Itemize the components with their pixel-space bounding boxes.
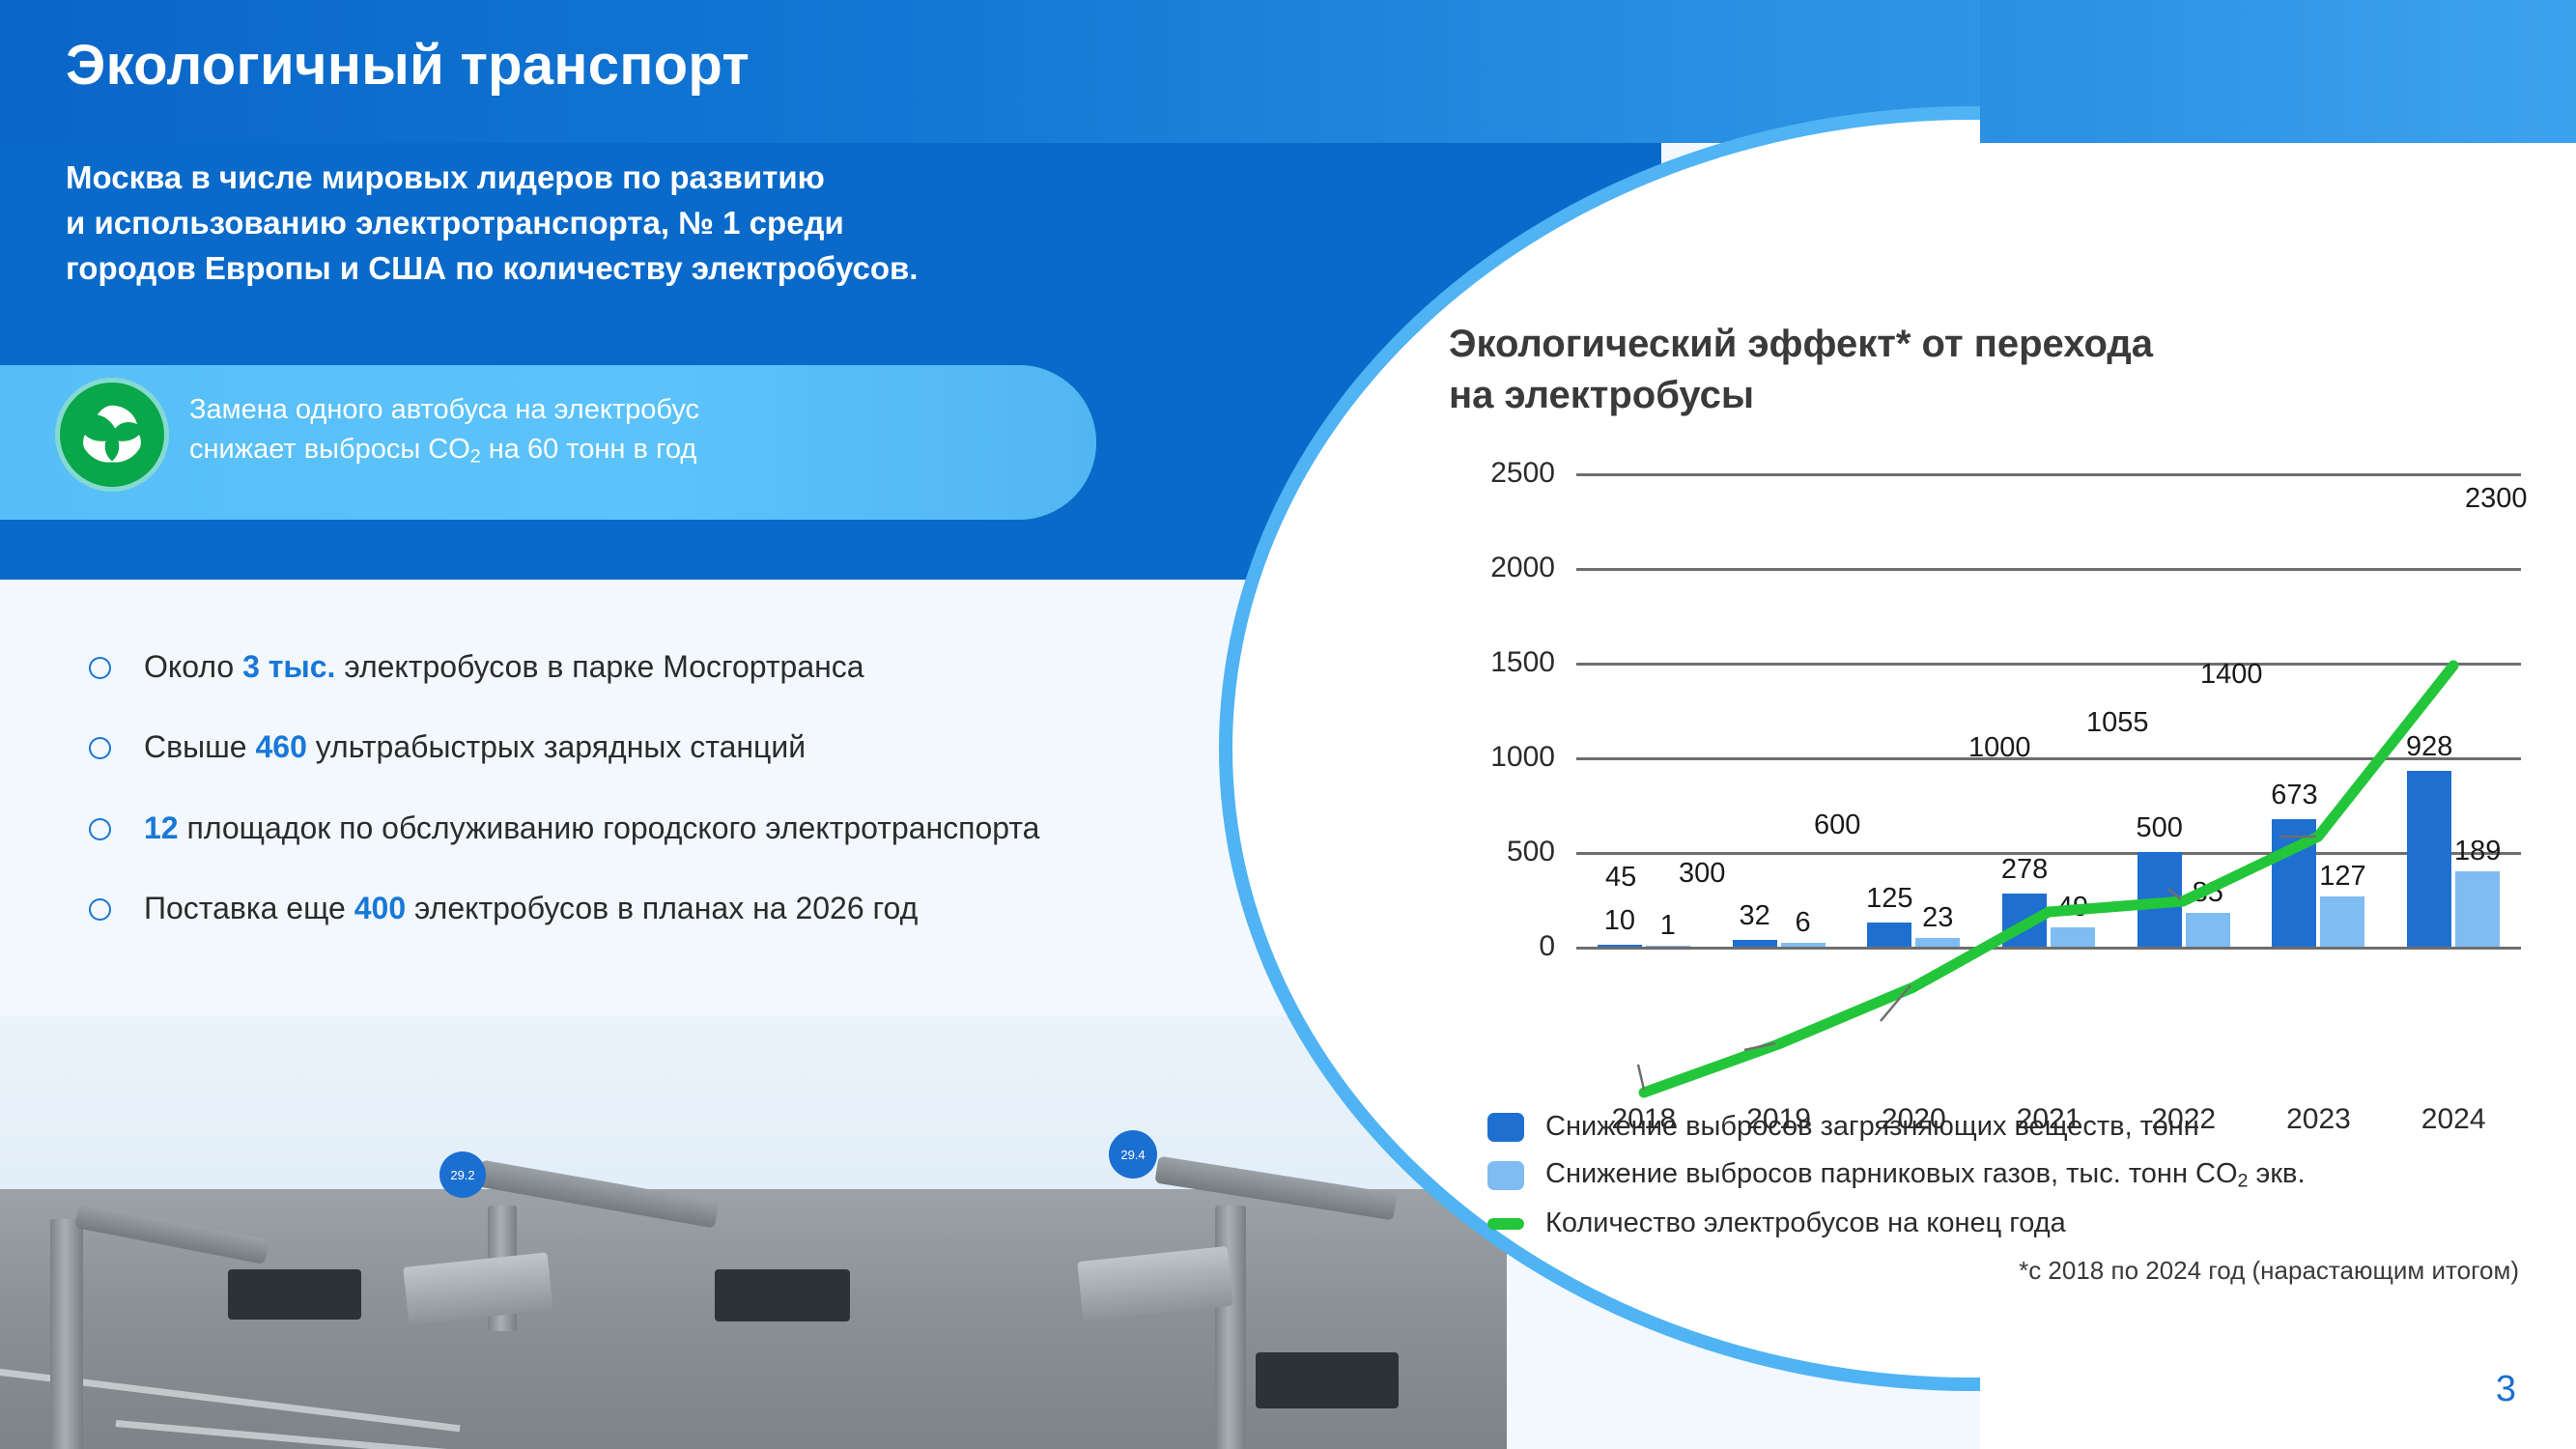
chart-plot-area: 2500 2000 1500 1000 500 0 10 1 32 6 125 … [1449, 473, 2521, 947]
page-title: Экологичный транспорт [66, 33, 750, 98]
bar-value-label: 673 [2271, 780, 2317, 811]
charger-tag: 29.2 [439, 1151, 486, 1198]
bar-pollutants: 125 [1867, 923, 1911, 947]
bullet-dot-icon [89, 737, 111, 759]
bar-greenhouse: 49 [2051, 927, 2095, 947]
bullet-post: ультрабыстрых зарядных станций [307, 729, 806, 764]
co2-badge-line-1: Замена одного автобуса на электробус [189, 390, 699, 430]
line-point-label-2021: 1000 [1968, 732, 2031, 764]
bar-pollutants: 32 [1733, 940, 1777, 947]
bar-greenhouse: 85 [2186, 913, 2230, 947]
bar-value-label: 49 [2057, 892, 2088, 923]
bar-value-label: 127 [2319, 861, 2365, 893]
bullet-pre: Поставка еще [144, 891, 354, 925]
subtitle-line-1: Москва в числе мировых лидеров по развит… [66, 155, 918, 200]
list-item: Свыше 460 ультрабыстрых зарядных станций [89, 725, 1055, 769]
legend-label: Снижение выбросов загрязняющих веществ, … [1545, 1111, 2199, 1143]
legend-item-greenhouse: Снижение выбросов парниковых газов, тыс.… [1487, 1158, 2306, 1192]
bar-pollutants: 928 [2407, 771, 2451, 947]
line-point-label-2023: 1400 [2200, 659, 2263, 691]
bar-greenhouse: 127 [2320, 896, 2364, 947]
y-axis-tick: 2000 [1449, 552, 1555, 584]
bar-greenhouse: 189 [2455, 871, 2500, 947]
charger-head [228, 1269, 361, 1320]
line-point-label-2020: 600 [1814, 810, 1860, 841]
chart-title-line-1: Экологический эффект* от перехода [1449, 319, 2531, 370]
y-axis-tick: 500 [1449, 836, 1555, 868]
bullet-dot-icon [89, 657, 111, 679]
y-axis-tick: 2500 [1449, 457, 1555, 490]
co2-badge-line-2-post: на 60 тонн в год [481, 434, 697, 465]
subtitle-line-3: городов Европы и США по количеству элект… [66, 245, 918, 291]
co2-badge-text: Замена одного автобуса на электробус сни… [189, 390, 699, 470]
list-item: 12 площадок по обслуживанию городского э… [89, 807, 1055, 850]
subtitle-line-2: и использованию электротранспорта, № 1 с… [66, 200, 918, 245]
legend-item-electrobus-count: Количество электробусов на конец года [1487, 1207, 2306, 1239]
bar-value-label: 85 [2193, 877, 2223, 909]
bar-pollutants: 673 [2272, 819, 2316, 947]
chart-legend: Снижение выбросов загрязняющих веществ, … [1487, 1111, 2306, 1255]
bar-pollutants: 500 [2137, 852, 2182, 947]
y-axis-tick: 1500 [1449, 646, 1555, 679]
charger-head [1256, 1352, 1399, 1408]
electrobus-photo: 29.2 29.4 Э электр 490170 Это электробус… [0, 1016, 1507, 1449]
bar-value-label: 23 [1922, 902, 1953, 934]
bar-value-label: 189 [2454, 836, 2501, 867]
bullet-text: Поставка еще 400 электробусов в планах н… [144, 887, 918, 930]
bar-greenhouse: 23 [1915, 938, 1960, 947]
bar-group-2019: 32 6 [1712, 473, 1847, 947]
bar-pollutants: 10 [1598, 945, 1642, 947]
bullet-highlight: 400 [354, 891, 406, 925]
header-band-right [1980, 0, 2576, 143]
bar-value-label: 500 [2137, 812, 2183, 844]
line-point-label-2019: 300 [1679, 858, 1725, 890]
bullet-post: электробусов в планах на 2026 год [406, 891, 918, 925]
page-subtitle: Москва в числе мировых лидеров по развит… [66, 155, 918, 292]
bullet-post: площадок по обслуживанию городского элек… [179, 810, 1040, 845]
bar-value-label: 1 [1660, 910, 1676, 942]
legend-swatch-icon [1487, 1161, 1524, 1190]
charger-mast [50, 1219, 83, 1449]
bar-greenhouse: 6 [1781, 943, 1826, 947]
bar-group-2024: 928 189 [2386, 473, 2521, 947]
bar-value-label: 125 [1866, 883, 1912, 915]
bar-group-2020: 125 23 [1846, 473, 1981, 947]
bar-value-label: 278 [2001, 854, 2048, 886]
bar-greenhouse: 1 [1646, 946, 1690, 947]
chart-footnote: *с 2018 по 2024 год (нарастающим итогом) [2019, 1256, 2519, 1286]
bullet-list: Около 3 тыс. электробусов в парке Мосгор… [89, 645, 1055, 968]
bar-value-label: 32 [1739, 900, 1769, 932]
bar-group-2023: 673 127 [2251, 473, 2387, 947]
co2-subscript: 2 [470, 446, 481, 468]
legend-label-post: экв. [2249, 1158, 2306, 1189]
gridline [1576, 947, 2521, 950]
bullet-pre: Свыше [144, 729, 255, 764]
co2-badge-line-2-pre: снижает выбросы CO [189, 434, 470, 465]
bullet-post: электробусов в парке Мосгортранса [335, 649, 863, 684]
page-number: 3 [2496, 1369, 2516, 1410]
line-point-label-2018: 45 [1605, 862, 1636, 894]
bar-value-label: 6 [1796, 907, 1811, 939]
list-item: Около 3 тыс. электробусов в парке Мосгор… [89, 645, 1055, 689]
legend-line-icon [1487, 1218, 1524, 1230]
legend-label: Снижение выбросов парниковых газов, тыс.… [1545, 1158, 2306, 1192]
line-point-label-2022: 1055 [2086, 707, 2149, 739]
chart-container: Экологический эффект* от перехода на эле… [1449, 319, 2531, 1314]
legend-label-pre: Снижение выбросов парниковых газов, тыс.… [1545, 1158, 2238, 1189]
charger-head [715, 1269, 850, 1321]
legend-swatch-icon [1487, 1113, 1524, 1142]
bullet-pre: Около [144, 649, 242, 684]
list-item: Поставка еще 400 электробусов в планах н… [89, 887, 1055, 930]
bullet-highlight: 12 [144, 810, 179, 845]
chart-title: Экологический эффект* от перехода на эле… [1449, 319, 2531, 421]
bar-value-label: 10 [1604, 905, 1635, 937]
line-point-label-2024: 2300 [2465, 483, 2528, 515]
co2-badge-line-2: снижает выбросы CO2 на 60 тонн в год [189, 430, 699, 469]
bullet-text: Свыше 460 ультрабыстрых зарядных станций [144, 725, 806, 769]
bar-value-label: 928 [2406, 731, 2452, 763]
x-axis-tick: 2024 [2386, 1103, 2521, 1136]
bullet-dot-icon [89, 898, 111, 921]
charger-mast [1215, 1206, 1246, 1449]
y-axis-tick: 0 [1449, 930, 1555, 963]
y-axis-tick: 1000 [1449, 741, 1555, 774]
photo-sky [0, 1016, 1507, 1198]
bullet-highlight: 460 [255, 729, 306, 764]
eco-recycle-icon [60, 383, 164, 487]
bullet-highlight: 3 тыс. [242, 649, 335, 684]
bullet-text: 12 площадок по обслуживанию городского э… [144, 807, 1039, 850]
chart-title-line-2: на электробусы [1449, 370, 2531, 421]
legend-label: Количество электробусов на конец года [1545, 1207, 2066, 1239]
bar-pollutants: 278 [2002, 894, 2047, 947]
co2-subscript: 2 [2238, 1170, 2249, 1191]
legend-item-pollutants: Снижение выбросов загрязняющих веществ, … [1487, 1111, 2306, 1143]
slide-root: Экологичный транспорт Москва в числе мир… [0, 0, 2576, 1449]
bullet-dot-icon [89, 818, 111, 840]
bullet-text: Около 3 тыс. электробусов в парке Мосгор… [144, 645, 864, 689]
charger-tag: 29.4 [1109, 1130, 1157, 1179]
